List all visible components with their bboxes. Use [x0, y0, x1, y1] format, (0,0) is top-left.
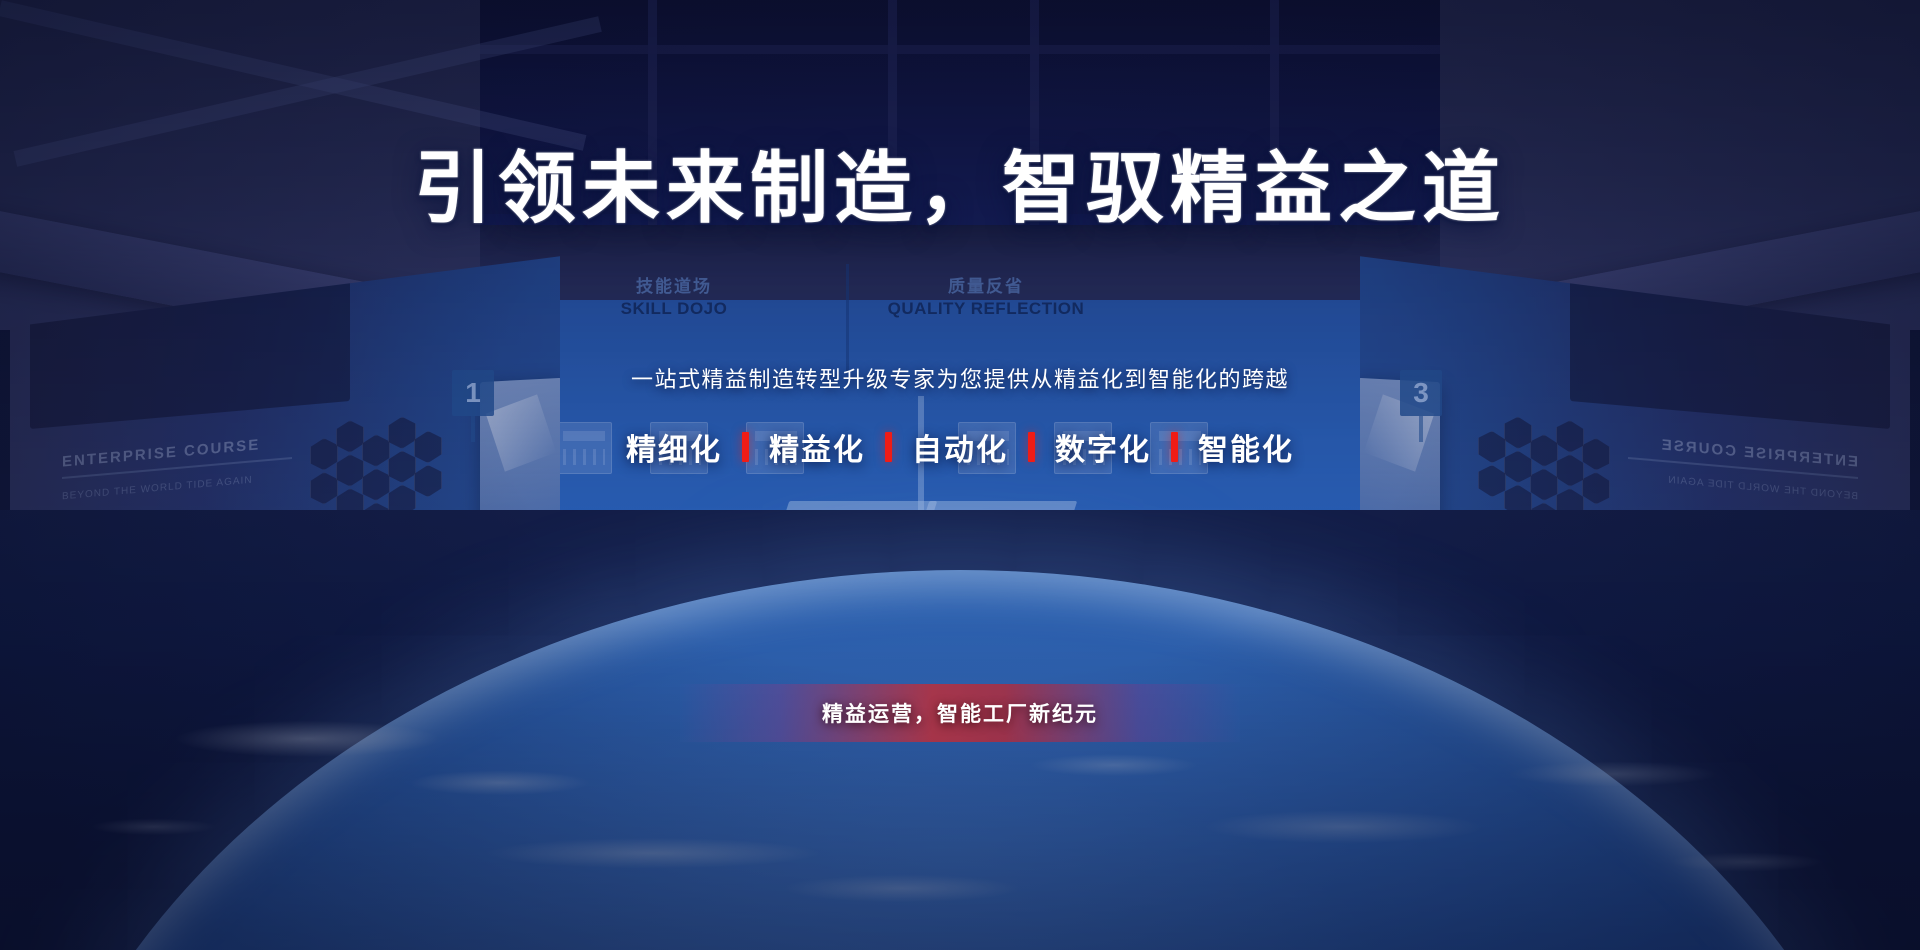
hero-content: 引领未来制造，智驭精益之道 一站式精益制造转型升级专家为您提供从精益化到智能化的… — [0, 0, 1920, 950]
page-title: 引领未来制造，智驭精益之道 — [0, 126, 1920, 238]
tagline-ribbon: 精益运营，智能工厂新纪元 — [680, 684, 1240, 742]
feature-separator-icon — [885, 432, 892, 462]
feature-item-1: 精细化 — [606, 425, 742, 469]
feature-item-3: 自动化 — [892, 425, 1028, 469]
feature-list: 精细化 精益化 自动化 数字化 智能化 — [0, 425, 1920, 469]
feature-item-5: 智能化 — [1178, 425, 1314, 469]
feature-item-2: 精益化 — [749, 425, 885, 469]
feature-separator-icon — [742, 432, 749, 462]
feature-separator-icon — [1028, 432, 1035, 462]
feature-separator-icon — [1171, 432, 1178, 462]
hero-banner: 技能道场 SKILL DOJO 质量反省 QUALITY REFLECTION … — [0, 0, 1920, 950]
feature-item-4: 数字化 — [1035, 425, 1171, 469]
page-subtitle: 一站式精益制造转型升级专家为您提供从精益化到智能化的跨越 — [0, 362, 1920, 394]
tagline-text: 精益运营，智能工厂新纪元 — [822, 698, 1098, 728]
